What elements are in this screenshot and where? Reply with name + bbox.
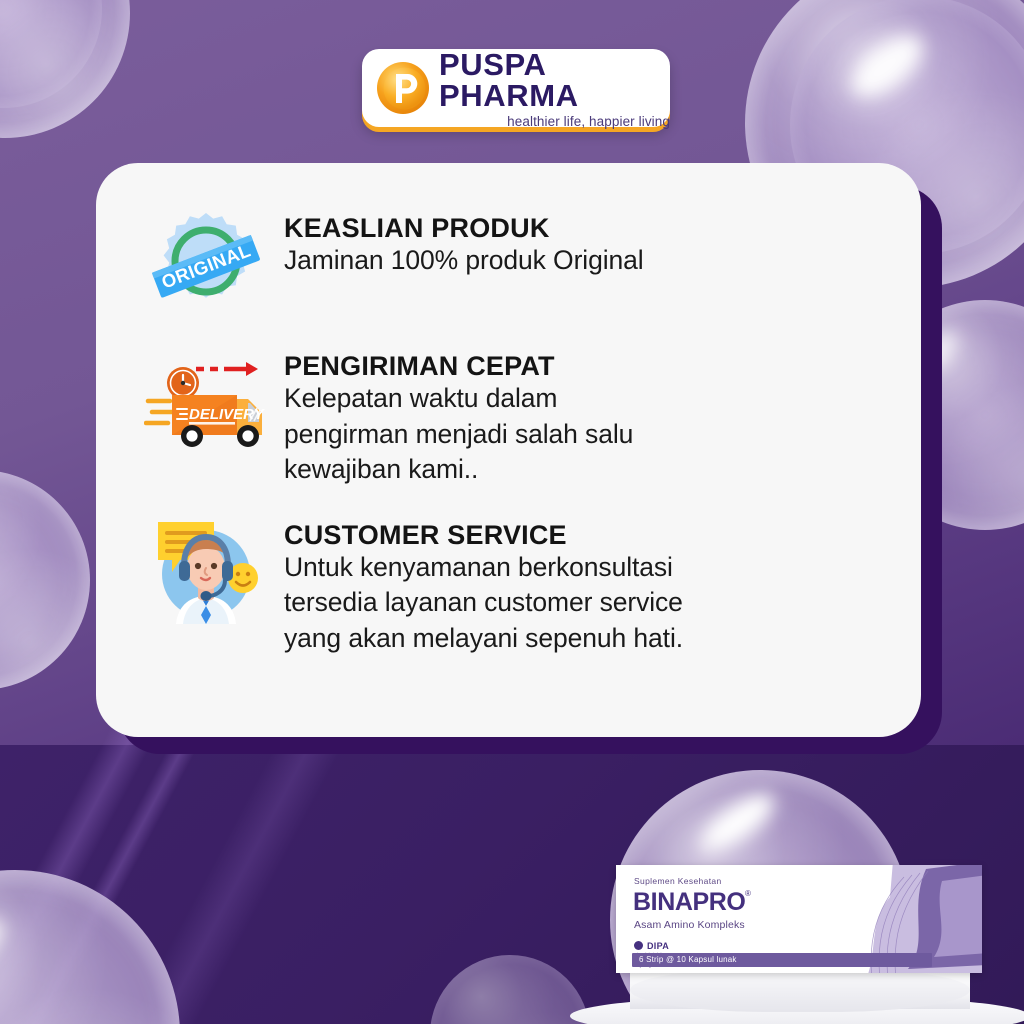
product-category: Suplemen Kesehatan bbox=[634, 876, 722, 886]
feature-item-pengiriman-cepat: DELIVERY PENGIRIMAN CEPAT Kelepatan wakt… bbox=[142, 345, 891, 488]
delivery-label: DELIVERY bbox=[189, 406, 266, 423]
product-manufacturer: DIPA bbox=[647, 941, 669, 951]
original-badge-icon: ORIGINAL bbox=[152, 209, 260, 313]
brand-tagline: healthier life, happier living bbox=[439, 114, 670, 129]
feature-icon-slot: DELIVERY bbox=[142, 345, 270, 457]
puspa-p-logo-icon bbox=[376, 61, 430, 115]
product-package: Suplemen Kesehatan BINAPRO ® Asam Amino … bbox=[616, 865, 982, 973]
feature-item-keaslian-produk: ORIGINAL KEASLIAN PRODUK Jaminan 100% pr… bbox=[142, 207, 891, 319]
product-pack-size-bar: 6 Strip @ 10 Kapsul lunak bbox=[632, 953, 932, 967]
feature-text-block: KEASLIAN PRODUK Jaminan 100% produk Orig… bbox=[284, 207, 644, 279]
feature-description: Kelepatan waktu dalam pengirman menjadi … bbox=[284, 381, 633, 488]
feature-title: PENGIRIMAN CEPAT bbox=[284, 351, 633, 381]
brand-logo-badge: PUSPA PHARMA healthier life, happier liv… bbox=[362, 49, 670, 127]
product-subtitle: Asam Amino Kompleks bbox=[634, 919, 745, 931]
brand-name: PUSPA PHARMA bbox=[439, 49, 670, 111]
customer-service-icon bbox=[150, 516, 262, 624]
info-card: ORIGINAL KEASLIAN PRODUK Jaminan 100% pr… bbox=[96, 163, 921, 737]
dipa-logo-icon bbox=[634, 941, 643, 950]
feature-text-block: CUSTOMER SERVICE Untuk kenyamanan berkon… bbox=[284, 514, 683, 657]
feature-description: Untuk kenyamanan berkonsultasi tersedia … bbox=[284, 550, 683, 657]
feature-description: Jaminan 100% produk Original bbox=[284, 243, 644, 279]
feature-icon-slot: ORIGINAL bbox=[142, 207, 270, 319]
brand-text-block: PUSPA PHARMA healthier life, happier liv… bbox=[439, 47, 670, 129]
feature-item-customer-service: CUSTOMER SERVICE Untuk kenyamanan berkon… bbox=[142, 514, 891, 657]
podium-top-disc bbox=[630, 968, 970, 1012]
product-name: BINAPRO bbox=[633, 890, 745, 915]
feature-text-block: PENGIRIMAN CEPAT Kelepatan waktu dalam p… bbox=[284, 345, 633, 488]
feature-title: KEASLIAN PRODUK bbox=[284, 213, 644, 243]
delivery-truck-icon: DELIVERY bbox=[144, 351, 270, 451]
feature-title: CUSTOMER SERVICE bbox=[284, 520, 683, 550]
feature-icon-slot bbox=[142, 514, 270, 626]
product-pack-size: 6 Strip @ 10 Kapsul lunak bbox=[639, 955, 737, 964]
registered-mark-icon: ® bbox=[745, 889, 751, 898]
